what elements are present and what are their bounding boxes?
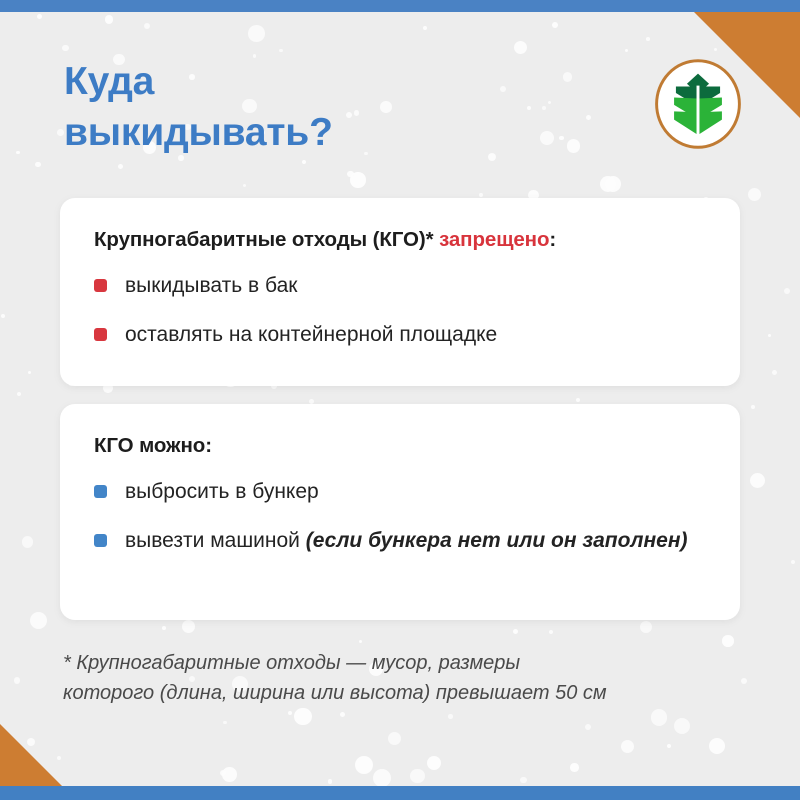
list-item: оставлять на контейнерной площадке <box>94 321 706 350</box>
card-forbidden-list: выкидывать в бак оставлять на контейнерн… <box>94 272 706 349</box>
card-forbidden-heading: Крупногабаритные отходы (КГО)* запрещено… <box>94 228 706 252</box>
card-forbidden: Крупногабаритные отходы (КГО)* запрещено… <box>60 198 740 386</box>
bullet-square-blue-icon <box>94 534 107 547</box>
bottom-blue-bar <box>0 786 800 800</box>
page-title: Куда выкидывать? <box>64 56 494 159</box>
top-blue-bar <box>0 0 800 12</box>
list-item: выбросить в бункер <box>94 478 706 507</box>
list-item-label: оставлять на контейнерной площадке <box>125 321 497 350</box>
bottom-left-orange-triangle <box>0 724 62 786</box>
footnote: * Крупногабаритные отходы — мусор, разме… <box>63 648 753 708</box>
card-allowed-heading: КГО можно: <box>94 434 706 458</box>
footnote-line-1: * Крупногабаритные отходы — мусор, разме… <box>63 648 753 678</box>
list-item-label-italic: (если бункера нет или он заполнен) <box>306 529 688 552</box>
card-forbidden-heading-suffix: : <box>549 228 556 251</box>
wheat-leaf-emblem-icon <box>652 58 744 150</box>
footnote-line-2: которого (длина, ширина или высота) прев… <box>63 678 753 708</box>
list-item-label: выкидывать в бак <box>125 272 297 301</box>
card-allowed: КГО можно: выбросить в бункер вывезти ма… <box>60 404 740 620</box>
card-allowed-heading-suffix: : <box>205 434 212 457</box>
card-allowed-heading-prefix: КГО можно <box>94 434 205 457</box>
card-forbidden-heading-prefix: Крупногабаритные отходы (КГО)* <box>94 228 439 251</box>
bullet-square-red-icon <box>94 279 107 292</box>
header: Куда выкидывать? <box>64 56 744 159</box>
poster-root: Куда выкидывать? Крупногабаритные отходы… <box>0 0 800 800</box>
card-forbidden-heading-accent: запрещено <box>439 228 549 251</box>
list-item: выкидывать в бак <box>94 272 706 301</box>
list-item: вывезти машиной (если бункера нет или он… <box>94 527 706 556</box>
page-title-line-2: выкидывать? <box>64 107 494 158</box>
bullet-square-blue-icon <box>94 485 107 498</box>
page-title-line-1: Куда <box>64 56 494 107</box>
list-item-label: вывезти машиной (если бункера нет или он… <box>125 527 688 556</box>
bullet-square-red-icon <box>94 328 107 341</box>
card-allowed-list: выбросить в бункер вывезти машиной (если… <box>94 478 706 555</box>
list-item-label: выбросить в бункер <box>125 478 319 507</box>
list-item-label-plain: вывезти машиной <box>125 529 306 552</box>
